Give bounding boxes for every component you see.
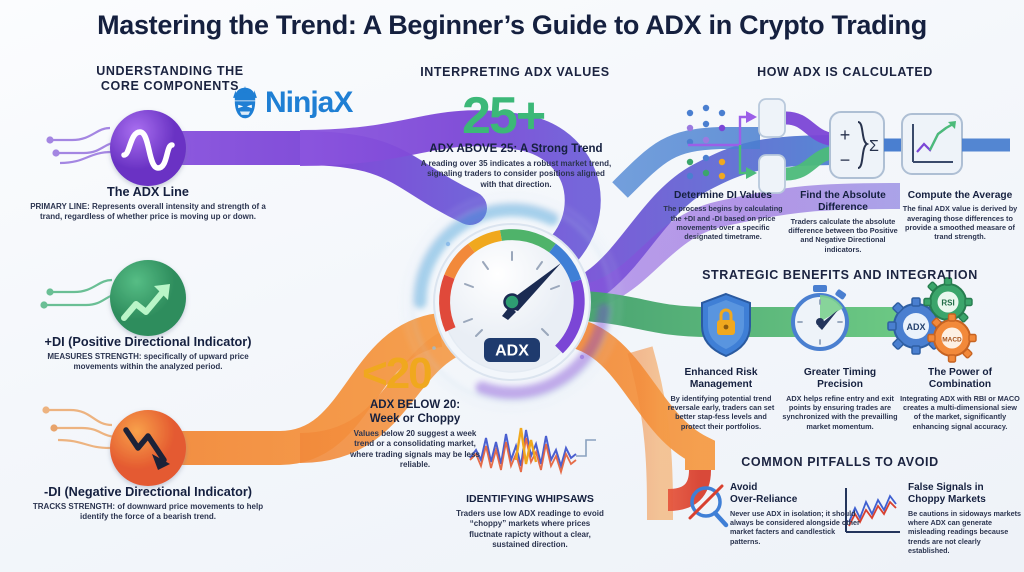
adx-strong-desc: A reading over 35 indicates a robust mar…: [418, 159, 614, 190]
core-component-desc: MEASURES STRENGTH: specifically of upwar…: [18, 352, 278, 373]
calculation-step-1: Determine DI Values The process begins b…: [662, 190, 784, 254]
whipsaws-title: IDENTIFYING WHIPSAWS: [452, 492, 608, 506]
pitfall-desc: Be cautions in sidoways markets where AD…: [908, 509, 1024, 555]
core-component-negative-di: -DI (Negative Directional Indicator) TRA…: [18, 480, 278, 523]
whipsaws-block: IDENTIFYING WHIPSAWS Traders use low ADX…: [452, 492, 608, 551]
benefits-list: Enhanced Risk Management By identifying …: [662, 367, 1020, 431]
core-component-title: -DI (Negative Directional Indicator): [18, 485, 278, 499]
adx-weak-title-line2: Week or Choppy: [348, 412, 482, 426]
adx-strong-block: ADX ABOVE 25: A Strong Trend A reading o…: [418, 142, 614, 190]
adx-weak-title-line1: ADX BELOW 20:: [348, 398, 482, 412]
pitfall-text: Avoid Over-Reliance Never use ADX in iso…: [730, 482, 862, 546]
core-component-positive-di: +DI (Positive Directional Indicator) MEA…: [18, 330, 278, 373]
adx-weak-value: <20: [362, 352, 431, 396]
benefit-desc: ADX helps refine entry and exit points b…: [780, 394, 900, 431]
page-title: Mastering the Trend: A Beginner’s Guide …: [0, 10, 1024, 41]
core-component-desc: TRACKS STRENGTH: of downward price movem…: [18, 502, 278, 523]
step-desc: The process begins by calculating the +D…: [662, 204, 784, 241]
core-component-desc: PRIMARY LINE: Represents overall intensi…: [18, 202, 278, 223]
whipsaws-desc: Traders use low ADX readinge to evoid “c…: [452, 509, 608, 551]
section-heading-pitfalls: COMMON PITFALLS TO AVOID: [660, 455, 1020, 470]
step-title-line2: Difference: [784, 202, 902, 214]
benefit-power-of-combination: The Power of Combination Integrating ADX…: [900, 367, 1020, 431]
pitfall-title-line2: Choppy Markets: [908, 494, 1024, 506]
step-title: Compute the Average: [902, 190, 1018, 202]
adx-weak-desc: Values below 20 suggest a week trend or …: [348, 429, 482, 471]
step-title-line1: Find the Absolute: [784, 190, 902, 202]
infographic-canvas: ADX: [0, 0, 1024, 572]
core-component-title: +DI (Positive Directional Indicator): [18, 335, 278, 349]
section-heading-core: UNDERSTANDING THE CORE COMPONENTS: [40, 64, 300, 94]
adx-strong-title: ADX ABOVE 25: A Strong Trend: [418, 142, 614, 156]
pitfall-over-reliance: Avoid Over-Reliance Never use ADX in iso…: [730, 482, 862, 546]
adx-strong-value: 25+: [462, 90, 544, 142]
step-title: Determine DI Values: [662, 190, 784, 202]
benefit-title-line2: Combination: [900, 379, 1020, 391]
calculation-steps: Determine DI Values The process begins b…: [662, 190, 1018, 254]
pitfall-false-signals: False Signals in Choppy Markets Be cauti…: [908, 482, 1024, 555]
pitfall-title-line1: False Signals in: [908, 482, 1024, 494]
benefit-title-line1: Greater Timing: [780, 367, 900, 379]
section-heading-calculated: HOW ADX IS CALCULATED: [690, 65, 1000, 80]
pitfall-title-line2: Over-Reliance: [730, 494, 862, 506]
benefit-title-line2: Precision: [780, 379, 900, 391]
core-heading-line2: CORE COMPONENTS: [40, 79, 300, 94]
pitfall-text: False Signals in Choppy Markets Be cauti…: [908, 482, 1024, 555]
calculation-step-2: Find the Absolute Difference Traders cal…: [784, 190, 902, 254]
benefit-desc: Integrating ADX with RBI or MACO creates…: [900, 394, 1020, 431]
benefit-title-line1: Enhanced Risk: [662, 367, 780, 379]
core-component-title: The ADX Line: [18, 185, 278, 199]
benefit-title-line2: Management: [662, 379, 780, 391]
section-heading-benefits: STRATEGIC BENEFITS AND INTEGRATION: [660, 268, 1020, 283]
step-desc: The final ADX value is derived by averag…: [902, 204, 1018, 241]
step-desc: Traders calculate the absolute differenc…: [784, 217, 902, 254]
calculation-step-3: Compute the Average The final ADX value …: [902, 190, 1018, 254]
pitfall-desc: Never use ADX in isolation; it should al…: [730, 509, 862, 546]
pitfall-title-line1: Avoid: [730, 482, 862, 494]
benefit-desc: By identifying potential trend reversale…: [662, 394, 780, 431]
core-heading-line1: UNDERSTANDING THE: [40, 64, 300, 79]
benefit-enhanced-risk-management: Enhanced Risk Management By identifying …: [662, 367, 780, 431]
adx-weak-block: ADX BELOW 20: Week or Choppy Values belo…: [348, 398, 482, 471]
core-component-adx-line: The ADX Line PRIMARY LINE: Represents ov…: [18, 180, 278, 223]
benefit-title-line1: The Power of: [900, 367, 1020, 379]
section-heading-interpreting: INTERPRETING ADX VALUES: [390, 65, 640, 80]
benefit-greater-timing-precision: Greater Timing Precision ADX helps refin…: [780, 367, 900, 431]
